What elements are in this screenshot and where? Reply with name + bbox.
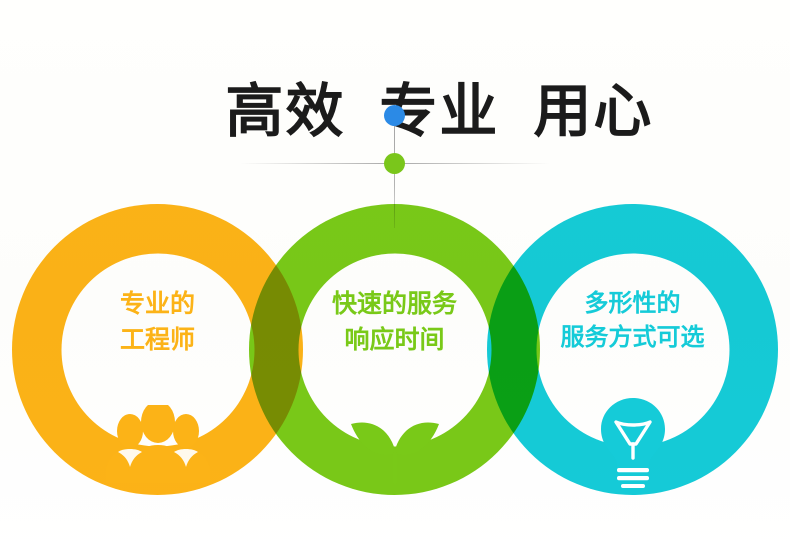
headline-word-3: 用心 xyxy=(533,77,653,145)
green-dot-icon xyxy=(384,153,405,174)
headline-word-1: 高效 xyxy=(225,77,345,145)
infographic-canvas: 高效专业用心 专业的 工程师 xyxy=(0,0,790,557)
blue-dot-icon xyxy=(384,105,405,126)
sprout-leaf-icon xyxy=(339,402,451,491)
people-group-icon xyxy=(104,405,212,488)
lightbulb-icon xyxy=(588,396,678,493)
circle-cyan-label: 多形性的 服务方式可选 xyxy=(487,286,778,354)
circle-cyan-content: 多形性的 服务方式可选 xyxy=(487,204,778,495)
